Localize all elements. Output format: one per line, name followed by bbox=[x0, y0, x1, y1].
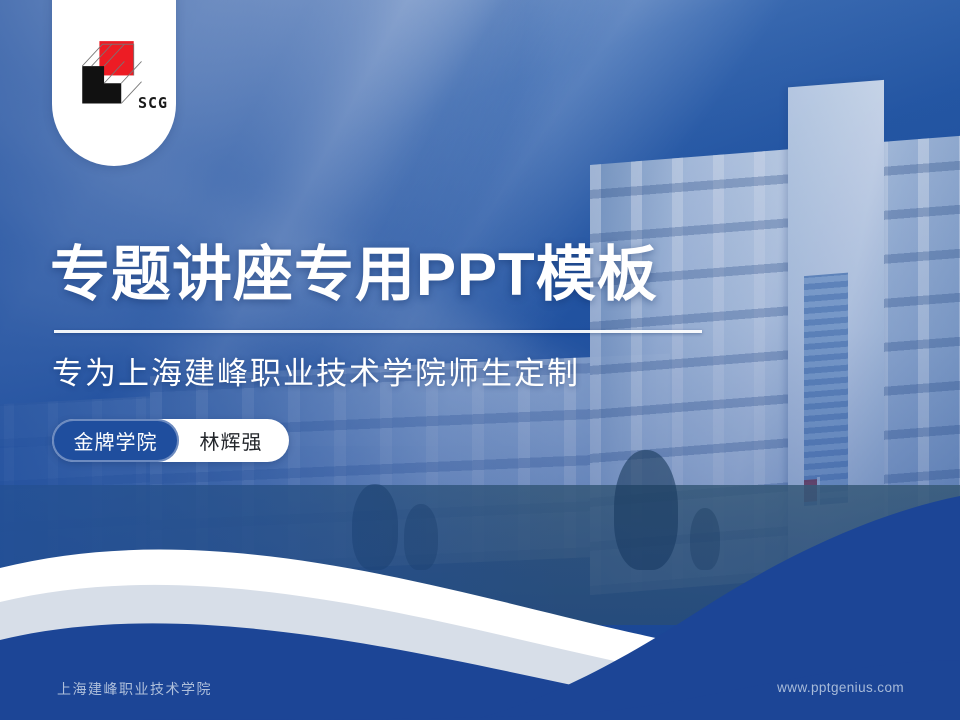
slide-title: 专题讲座专用PPT模板 bbox=[50, 243, 658, 308]
presentation-title-slide: SCG 专题讲座专用PPT模板 专为上海建峰职业技术学院师生定制 金牌学院 林辉… bbox=[0, 0, 960, 720]
slide-subtitle: 专为上海建峰职业技术学院师生定制 bbox=[52, 348, 580, 393]
footer-institution-name: 上海建峰职业技术学院 bbox=[57, 679, 212, 699]
speaker-badge-tag: 金牌学院 bbox=[52, 419, 179, 462]
speaker-badge: 金牌学院 林辉强 bbox=[52, 419, 289, 462]
speaker-badge-name: 林辉强 bbox=[179, 426, 289, 455]
logo-wordmark: SCG bbox=[138, 94, 168, 112]
footer-website[interactable]: www.pptgenius.com bbox=[777, 680, 904, 695]
title-divider-rule bbox=[54, 330, 702, 333]
institution-logo-badge: SCG bbox=[52, 0, 176, 166]
